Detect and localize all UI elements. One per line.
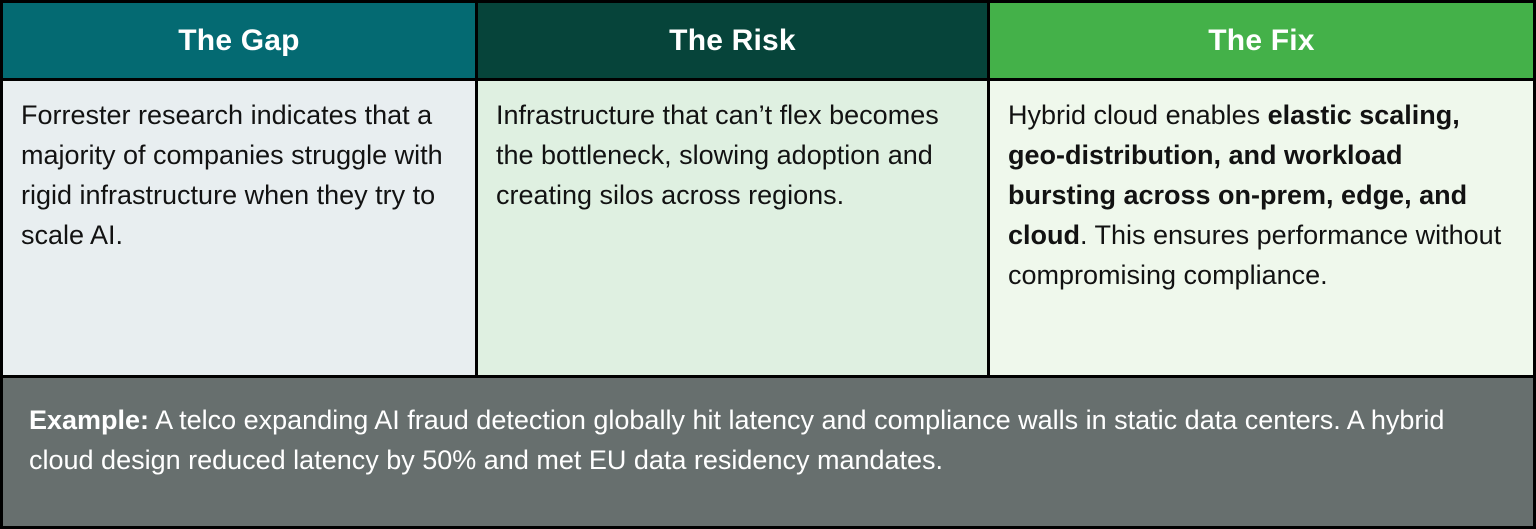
cell-gap-body: Forrester research indicates that a majo… — [0, 81, 478, 375]
cell-fix-tail: . This ensures performance without compr… — [1008, 220, 1501, 290]
cell-fix-body: Hybrid cloud enables elastic scaling, ge… — [990, 81, 1536, 375]
column-header-fix: The Fix — [990, 0, 1536, 78]
example-footer: Example: A telco expanding AI fraud dete… — [0, 375, 1536, 529]
example-label: Example: — [29, 405, 149, 435]
table-header-row: The Gap The Risk The Fix — [0, 0, 1536, 81]
example-text: A telco expanding AI fraud detection glo… — [29, 405, 1444, 475]
cell-risk-body: Infrastructure that can’t flex becomes t… — [478, 81, 990, 375]
column-header-gap-label: The Gap — [178, 24, 299, 58]
table-body-row: Forrester research indicates that a majo… — [0, 81, 1536, 375]
column-header-gap: The Gap — [0, 0, 478, 78]
column-header-risk-label: The Risk — [669, 24, 796, 58]
comparison-table: The Gap The Risk The Fix Forrester resea… — [0, 0, 1536, 529]
column-header-fix-label: The Fix — [1208, 24, 1314, 58]
cell-fix-lead: Hybrid cloud enables — [1008, 100, 1268, 130]
column-header-risk: The Risk — [478, 0, 990, 78]
